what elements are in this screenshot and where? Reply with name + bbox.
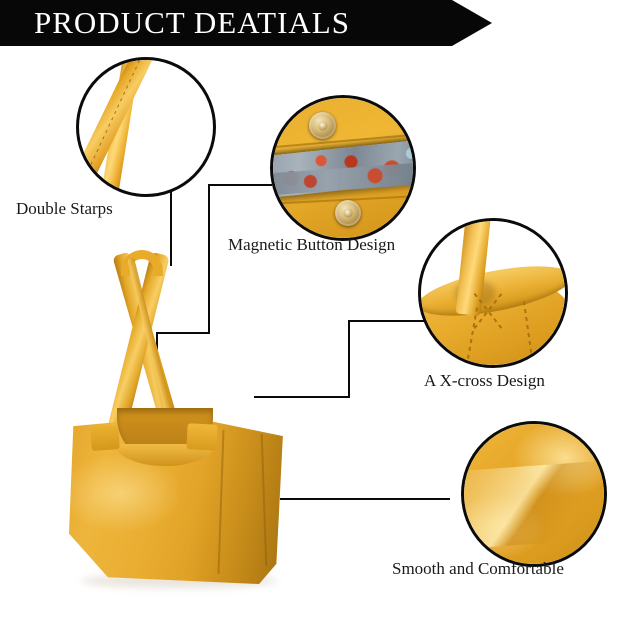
callout-image-x-cross [418,218,568,368]
callout-smooth-inner [464,424,604,564]
callout-straps-inner [79,60,213,194]
callout-image-magnetic-button [270,95,416,241]
callout-label-smooth-comfortable: Smooth and Comfortable [392,558,564,580]
leader-line-button-top [208,184,272,186]
product-detail-infographic: PRODUCT DEATIALS [0,0,640,640]
bag-strap-tab-right [186,423,217,451]
callout-image-smooth-comfortable [461,421,607,567]
callout-image-double-straps [76,57,216,197]
leader-line-xcross-riser [348,320,350,398]
leader-line-smooth [280,498,450,500]
callout-label-x-cross: A X-cross Design [424,370,545,392]
product-photo-main [55,248,300,588]
callout-label-magnetic-button: Magnetic Button Design [228,234,395,256]
callout-button-inner [273,98,413,238]
leather-fold-highlight [464,460,604,550]
magnetic-snap-button-bottom [335,200,361,226]
bag-strap-tab-left [90,425,120,451]
callout-xcross-inner [421,221,565,365]
callout-label-double-straps: Double Starps [16,198,113,220]
magnetic-snap-button-top [309,112,336,139]
page-title: PRODUCT DEATIALS [34,3,350,43]
leader-line-xcross-top [348,320,426,322]
